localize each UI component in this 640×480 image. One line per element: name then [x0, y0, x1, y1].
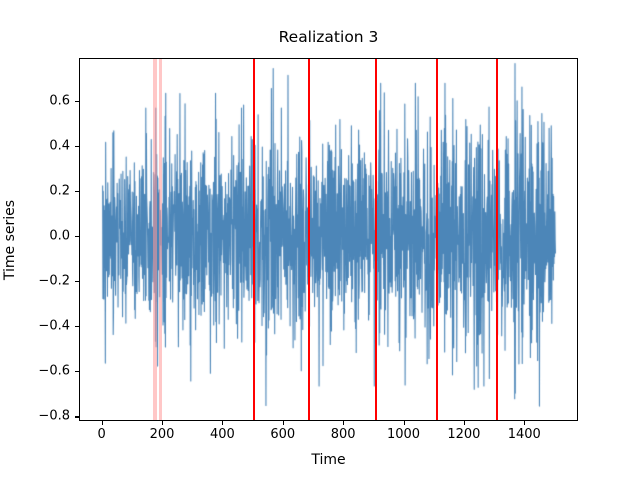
x-tick-label: 1400 — [508, 427, 541, 442]
y-tick-mark — [75, 326, 79, 327]
y-tick-mark — [75, 416, 79, 417]
y-axis-label: Time series — [0, 58, 20, 421]
x-tick-mark — [283, 421, 284, 425]
y-tick-mark — [75, 101, 79, 102]
x-tick-label: 200 — [150, 427, 175, 442]
x-tick-mark — [464, 421, 465, 425]
y-tick-mark — [75, 281, 79, 282]
x-axis-label: Time — [79, 452, 578, 468]
time-series-plot — [80, 59, 578, 421]
y-tick-mark — [75, 146, 79, 147]
x-tick-label: 600 — [270, 427, 295, 442]
y-axis-label-text: Time series — [2, 199, 18, 279]
y-tick-mark — [75, 191, 79, 192]
figure-canvas: Realization 3 0200400600800100012001400 … — [0, 0, 640, 480]
plot-area — [79, 58, 578, 421]
x-tick-mark — [524, 421, 525, 425]
x-tick-mark — [343, 421, 344, 425]
x-tick-mark — [102, 421, 103, 425]
chart-title: Realization 3 — [79, 28, 578, 46]
x-tick-label: 1200 — [447, 427, 480, 442]
x-tick-label: 400 — [210, 427, 235, 442]
x-tick-label: 1000 — [387, 427, 420, 442]
x-tick-mark — [222, 421, 223, 425]
x-tick-mark — [404, 421, 405, 425]
x-tick-label: 800 — [331, 427, 356, 442]
x-tick-label: 0 — [98, 427, 106, 442]
x-tick-mark — [162, 421, 163, 425]
y-tick-mark — [75, 371, 79, 372]
y-tick-mark — [75, 236, 79, 237]
